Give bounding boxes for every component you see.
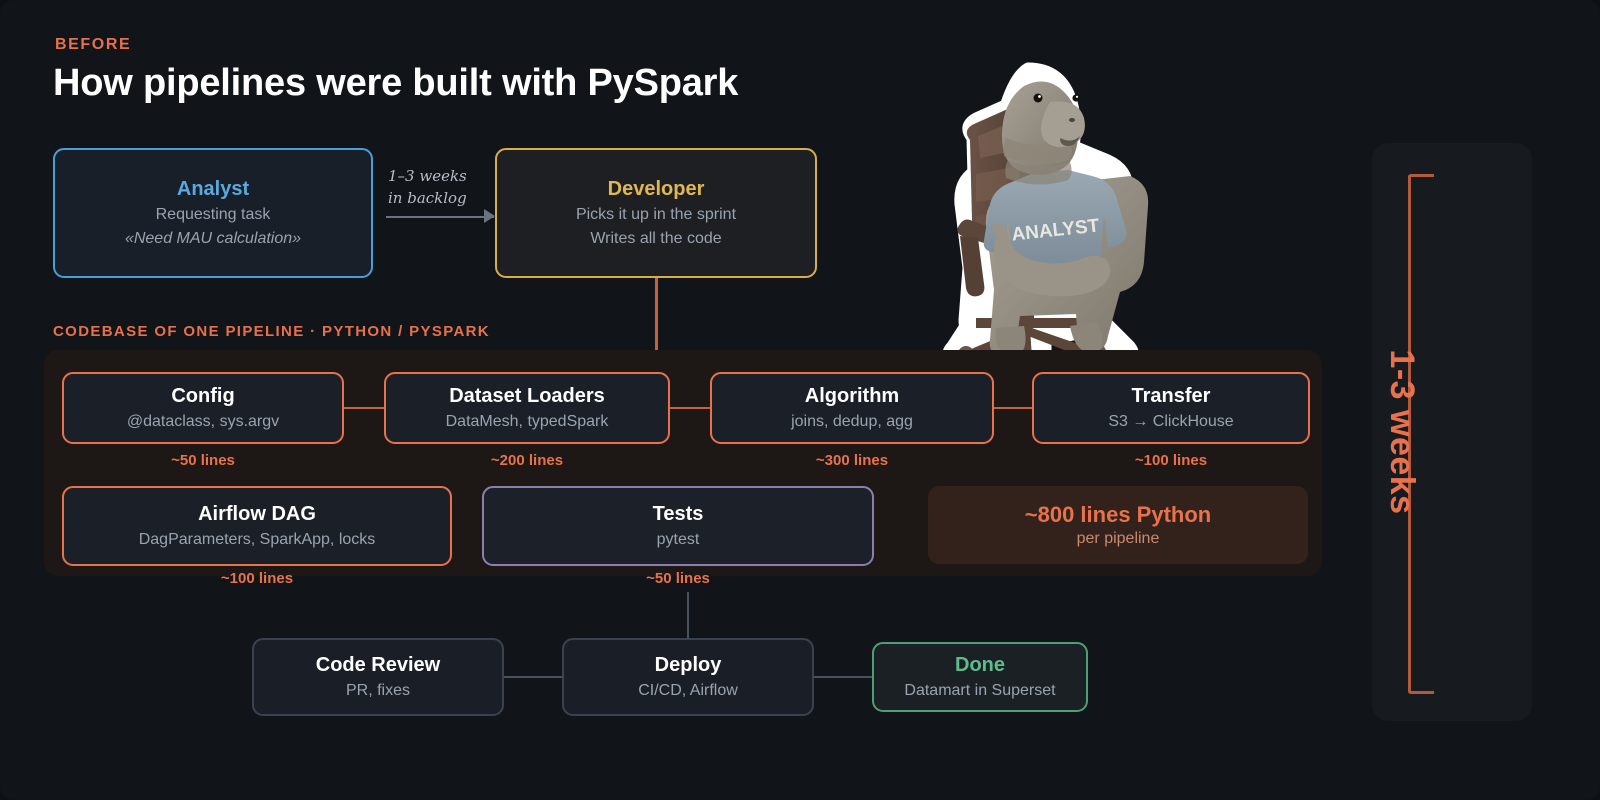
codebase-summary-total: ~800 lines Python per pipeline	[928, 486, 1308, 564]
codebase-node-transfer[interactable]: Transfer S3 → ClickHouse	[1032, 372, 1310, 444]
tests-title: Tests	[653, 502, 704, 527]
analyst-title: Analyst	[177, 177, 249, 202]
dataset-loaders-title: Dataset Loaders	[449, 384, 605, 409]
section-kicker-before: BEFORE	[55, 36, 131, 54]
codebase-node-config[interactable]: Config @dataclass, sys.argv	[62, 372, 344, 444]
dataset-loaders-subtitle: DataMesh, typedSpark	[446, 411, 609, 433]
flow-node-developer[interactable]: Developer Picks it up in the sprint Writ…	[495, 148, 817, 278]
algorithm-subtitle: joins, dedup, agg	[791, 411, 913, 433]
lines-label-transfer: ~100 lines	[1032, 452, 1310, 469]
tests-subtitle: pytest	[657, 529, 700, 551]
codebase-section-kicker: CODEBASE OF ONE PIPELINE · PYTHON / PYSP…	[53, 323, 490, 340]
airflow-dag-title: Airflow DAG	[198, 502, 316, 527]
code-review-subtitle: PR, fixes	[346, 680, 410, 702]
airflow-dag-subtitle: DagParameters, SparkApp, locks	[139, 529, 376, 551]
duration-label: 1-3 weeks	[1372, 143, 1432, 721]
transfer-subtitle: S3 → ClickHouse	[1108, 411, 1233, 433]
deploy-subtitle: CI/CD, Airflow	[638, 680, 738, 702]
codebase-node-dataset-loaders[interactable]: Dataset Loaders DataMesh, typedSpark	[384, 372, 670, 444]
arrow-label-line-2: in backlog	[388, 188, 498, 210]
analyst-quote: «Need MAU calculation»	[125, 228, 301, 250]
codebase-node-airflow-dag[interactable]: Airflow DAG DagParameters, SparkApp, loc…	[62, 486, 452, 566]
done-title: Done	[955, 653, 1005, 678]
lines-label-dataset-loaders: ~200 lines	[384, 452, 670, 469]
codebase-node-algorithm[interactable]: Algorithm joins, dedup, agg	[710, 372, 994, 444]
backlog-arrow-head-icon	[484, 209, 495, 223]
lines-label-config: ~50 lines	[62, 452, 344, 469]
developer-subtitle-1: Picks it up in the sprint	[576, 204, 736, 226]
algorithm-title: Algorithm	[805, 384, 899, 409]
done-subtitle: Datamart in Superset	[904, 680, 1055, 702]
connector-config-to-loaders	[344, 407, 384, 409]
transfer-title: Transfer	[1132, 384, 1211, 409]
backlog-arrow-line	[386, 216, 494, 218]
lines-label-tests: ~50 lines	[482, 570, 874, 587]
config-subtitle: @dataclass, sys.argv	[127, 411, 279, 433]
deploy-title: Deploy	[655, 653, 722, 678]
summary-total-lines: ~800 lines Python	[1025, 502, 1211, 528]
code-review-title: Code Review	[316, 653, 440, 678]
flow-node-done[interactable]: Done Datamart in Superset	[872, 642, 1088, 712]
walrus-analyst-mascot: ANALYST	[900, 40, 1150, 370]
connector-review-to-deploy	[504, 676, 562, 678]
developer-subtitle-2: Writes all the code	[590, 228, 721, 250]
flow-node-deploy[interactable]: Deploy CI/CD, Airflow	[562, 638, 814, 716]
connector-deploy-to-done	[814, 676, 872, 678]
flow-node-code-review[interactable]: Code Review PR, fixes	[252, 638, 504, 716]
connector-algorithm-to-transfer	[994, 407, 1032, 409]
connector-loaders-to-algorithm	[670, 407, 710, 409]
lines-label-algorithm: ~300 lines	[710, 452, 994, 469]
codebase-node-tests[interactable]: Tests pytest	[482, 486, 874, 566]
analyst-subtitle: Requesting task	[156, 204, 271, 226]
connector-developer-to-codebase	[655, 278, 658, 352]
flow-node-analyst[interactable]: Analyst Requesting task «Need MAU calcul…	[53, 148, 373, 278]
config-title: Config	[171, 384, 234, 409]
lines-label-airflow-dag: ~100 lines	[62, 570, 452, 587]
connector-tests-to-deploy	[687, 592, 689, 638]
page-title: How pipelines were built with PySpark	[53, 62, 738, 105]
summary-total-caption: per pipeline	[1077, 530, 1160, 548]
arrow-label-line-1: 1–3 weeks	[388, 166, 498, 188]
developer-title: Developer	[608, 177, 705, 202]
slide-canvas: BEFORE How pipelines were built with PyS…	[0, 0, 1600, 800]
